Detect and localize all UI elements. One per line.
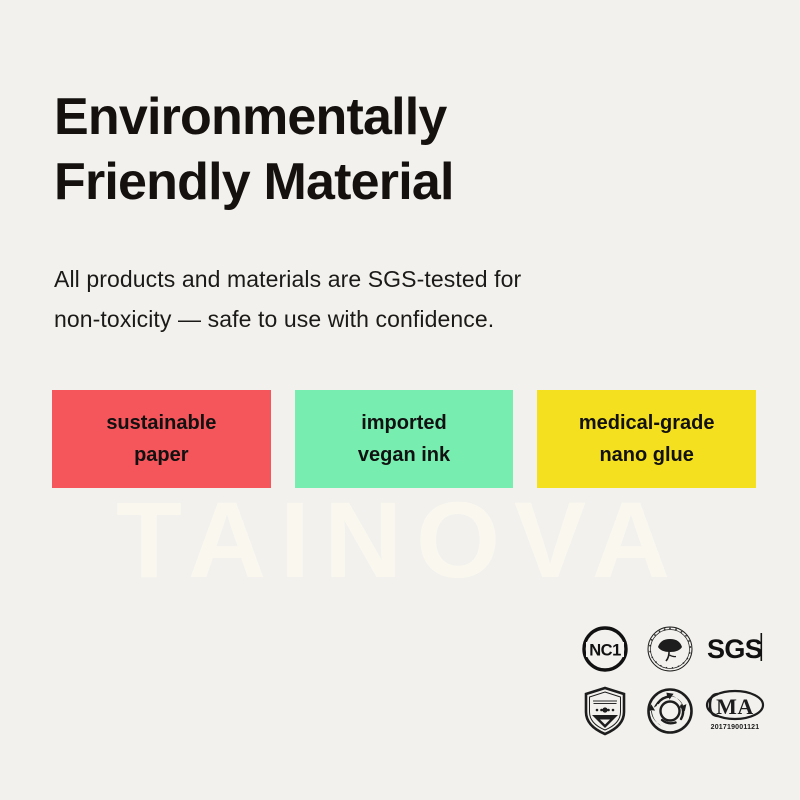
feature-badge-medical-grade-nano-glue: medical-grade nano glue xyxy=(537,390,756,488)
feature-badge-sustainable-paper: sustainable paper xyxy=(52,390,271,488)
cma-certificate-number: 201719001121 xyxy=(711,724,760,731)
feature-badge-label-line-1: imported xyxy=(361,407,447,439)
nc1-mark-icon: NC1 xyxy=(574,619,636,679)
feature-badge-label-line-1: sustainable xyxy=(106,407,216,439)
feature-badge-group: sustainable paper imported vegan ink med… xyxy=(52,390,756,488)
page-title-line-1: Environmentally xyxy=(54,85,694,151)
poster-canvas: TAINOVA Environmentally Friendly Materia… xyxy=(0,0,800,800)
feature-badge-label-line-2: nano glue xyxy=(599,439,693,471)
svg-text:SGS: SGS xyxy=(707,634,762,664)
certification-logo-group: NC1 xyxy=(572,618,768,742)
page-subtitle-line-1: All products and materials are SGS-teste… xyxy=(54,259,674,299)
svg-text:MA: MA xyxy=(717,694,755,719)
page-subtitle: All products and materials are SGS-teste… xyxy=(54,259,674,340)
feature-badge-label-line-1: medical-grade xyxy=(579,407,715,439)
svg-text:NC1: NC1 xyxy=(589,642,621,660)
shield-badge-icon xyxy=(574,681,636,741)
page-title: Environmentally Friendly Material xyxy=(54,85,694,216)
sgs-logo-icon: SGS xyxy=(704,619,766,679)
page-subtitle-line-2: non-toxicity — safe to use with confiden… xyxy=(54,299,674,339)
cma-mark-icon: MA 201719001121 xyxy=(704,681,766,741)
feature-badge-imported-vegan-ink: imported vegan ink xyxy=(295,390,514,488)
page-title-line-2: Friendly Material xyxy=(54,150,694,216)
brand-watermark: TAINOVA xyxy=(0,486,800,594)
recycling-symbol-icon xyxy=(639,681,701,741)
feature-badge-label-line-2: paper xyxy=(134,439,188,471)
fsc-tree-seal-icon xyxy=(639,619,701,679)
feature-badge-label-line-2: vegan ink xyxy=(358,439,450,471)
